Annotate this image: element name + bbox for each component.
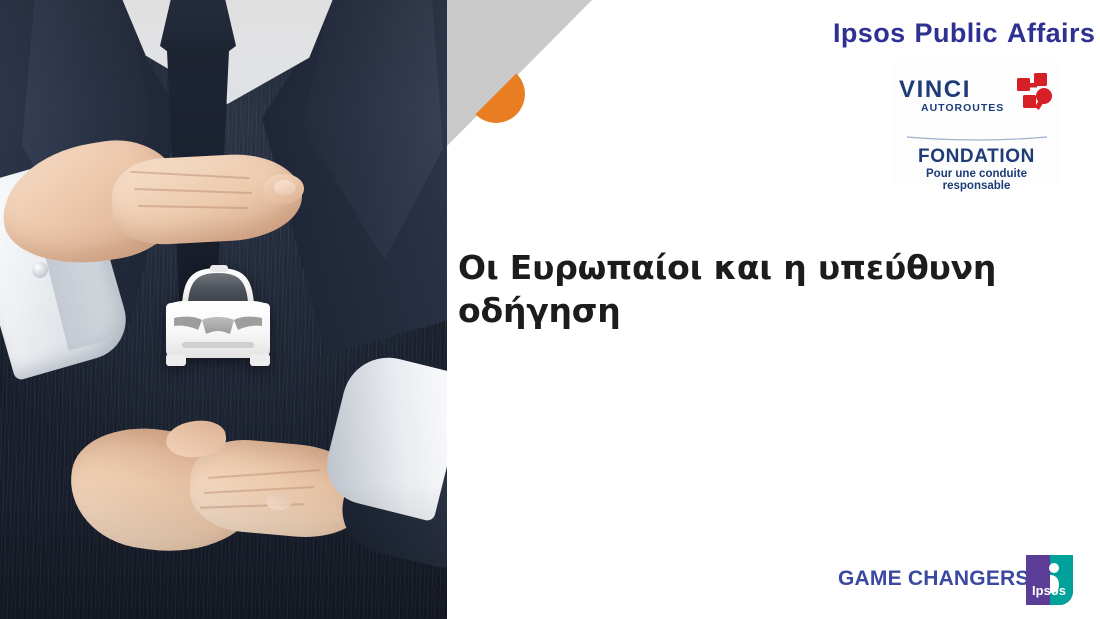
car-icon [148,258,288,376]
hero-photo [0,0,447,619]
car-roof-nub [210,265,228,272]
vinci-mark-icon [1011,72,1055,116]
vinci-divider [907,136,1047,143]
upper-hand [2,108,302,268]
fondation-label: FONDATION [893,146,1060,168]
fondation-tagline: Pour une conduite responsable [893,168,1060,192]
car-wheel-left [166,354,186,366]
orange-half-circle [467,65,525,123]
car-wheel-right [250,354,270,366]
vinci-blocks-icon [1011,72,1055,116]
necktie-knot [160,0,236,62]
vinci-wordmark: VINCI [899,76,971,104]
slide-root: IpsosPublicAffairs VINCI AUTOROUTES FOND… [0,0,1100,619]
game-changers-tagline: GAME CHANGERS [838,567,1030,591]
brand-ipsos: Ipsos [833,18,906,48]
ipsos-logo-icon: Ipsos [1026,555,1073,605]
lower-hand [70,425,370,585]
vinci-autoroutes-fondation-logo: VINCI AUTOROUTES FONDATION Pour une cond… [893,62,1060,185]
brand-public: Public [915,18,998,48]
lower-hand-nail [266,493,292,510]
ipsos-public-affairs-wordmark: IpsosPublicAffairs [833,18,1095,49]
brand-affairs: Affairs [1007,18,1095,48]
car-bumper-vent [182,342,254,348]
svg-text:Ipsos: Ipsos [1032,583,1066,598]
page-title: Οι Ευρωπαίοι και η υπεύθυνηοδήγηση [458,247,1013,333]
page-title-line-1: Οι Ευρωπαίοι και η υπεύθυνη [458,248,996,287]
page-title-line-2: οδήγηση [458,291,621,330]
vinci-wordmark-row: VINCI AUTOROUTES [899,76,1055,118]
upper-hand-nail [274,180,296,195]
gray-triangle [447,0,592,146]
ipsos-logo: Ipsos [1026,555,1073,605]
white-car-model [148,258,288,376]
vinci-autoroutes-label: AUTOROUTES [921,102,1004,114]
